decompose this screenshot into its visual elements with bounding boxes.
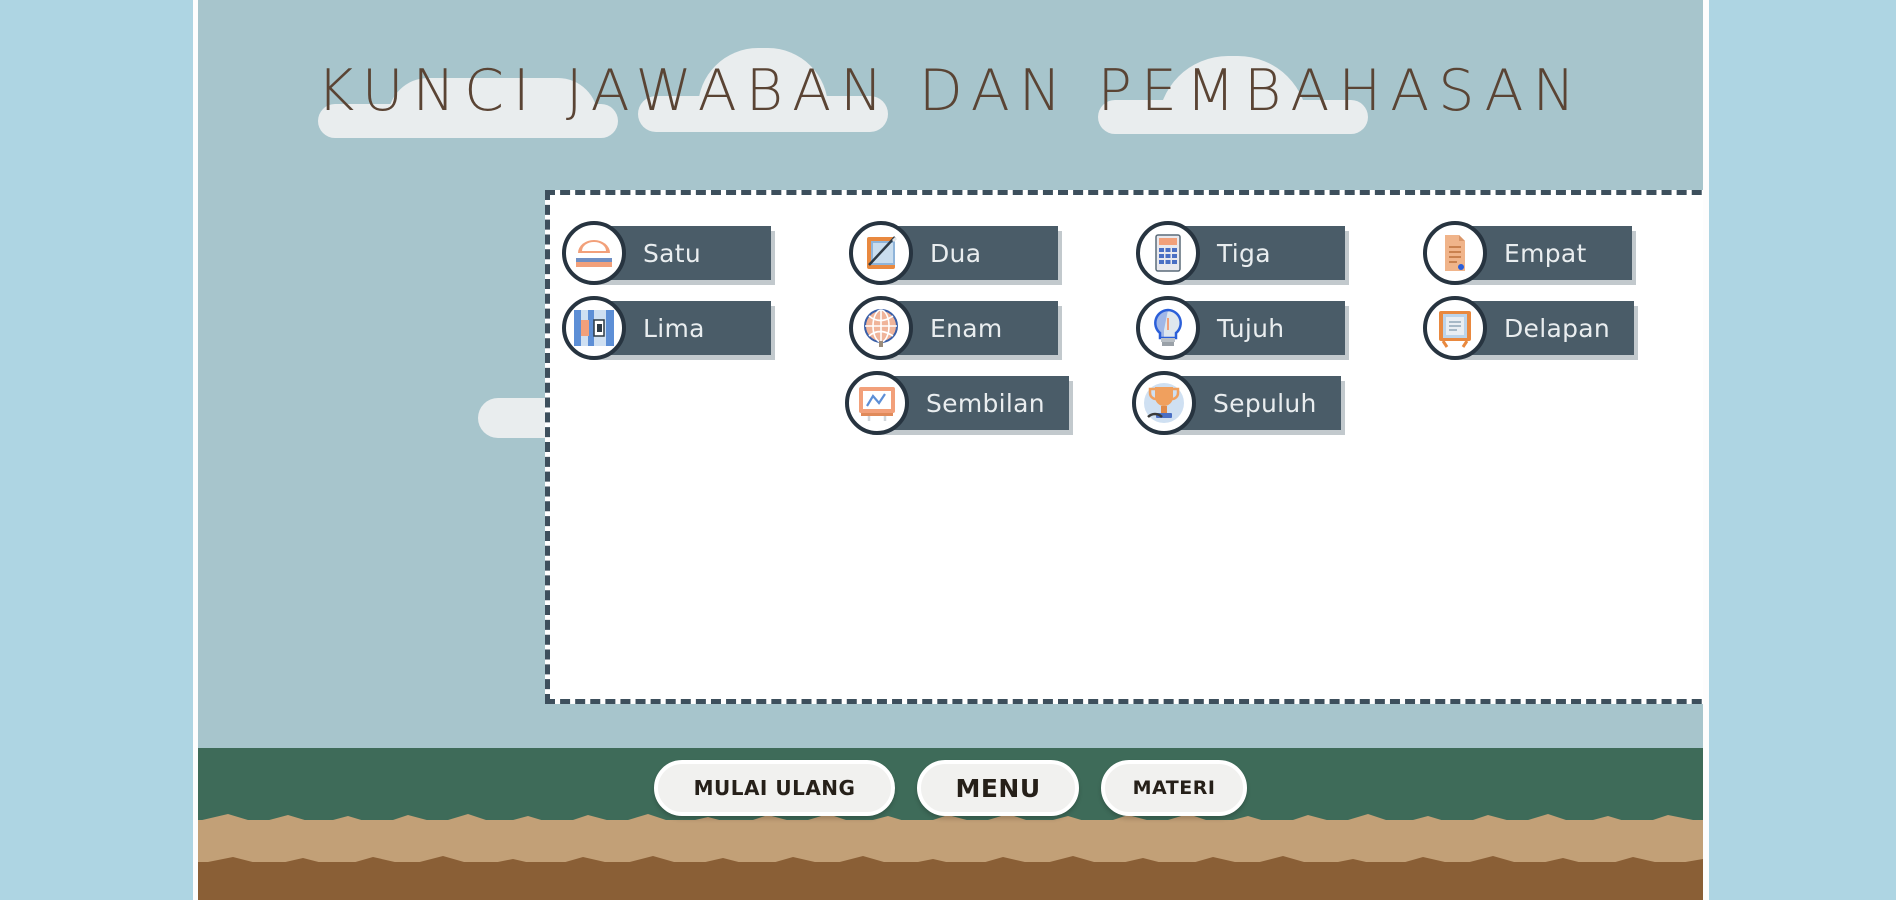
answer-button-label: Sembilan xyxy=(926,389,1045,418)
notepad-pen-icon xyxy=(849,221,913,285)
answer-button-label: Satu xyxy=(643,239,701,268)
answer-button-sepuluh[interactable]: Sepuluh xyxy=(1155,376,1341,430)
answer-button-delapan[interactable]: Delapan xyxy=(1446,301,1634,355)
restart-button[interactable]: MULAI ULANG xyxy=(654,760,896,816)
answer-row: SatuDuaTigaEmpat xyxy=(550,226,1703,280)
answer-slot: Dua xyxy=(872,226,1159,280)
answer-slot: Tiga xyxy=(1159,226,1446,280)
document-icon xyxy=(1423,221,1487,285)
answer-slot: Empat xyxy=(1446,226,1703,280)
answer-button-label: Delapan xyxy=(1504,314,1610,343)
nav-button-label: MULAI ULANG xyxy=(694,776,856,800)
answer-button-label: Dua xyxy=(930,239,981,268)
lightbulb-icon xyxy=(1136,296,1200,360)
bowl-icon xyxy=(562,221,626,285)
answer-slot: Tujuh xyxy=(1159,301,1446,355)
nav-button-label: MATERI xyxy=(1133,777,1216,799)
trophy-icon xyxy=(1132,371,1196,435)
page-title: KUNCI JAWABAN DAN PEMBAHASAN xyxy=(198,58,1703,124)
books-icon xyxy=(562,296,626,360)
answer-button-dua[interactable]: Dua xyxy=(872,226,1058,280)
answer-button-tiga[interactable]: Tiga xyxy=(1159,226,1345,280)
answer-button-label: Tiga xyxy=(1217,239,1271,268)
app-root: KUNCI JAWABAN DAN PEMBAHASAN ✕ SatuDuaTi… xyxy=(0,0,1896,900)
answer-button-sembilan[interactable]: Sembilan xyxy=(868,376,1069,430)
answer-key-panel: SatuDuaTigaEmpatLimaEnamTujuhDelapanSemb… xyxy=(545,190,1703,704)
answer-button-label: Enam xyxy=(930,314,1003,343)
answer-slot: Lima xyxy=(585,301,872,355)
answer-slot: Enam xyxy=(872,301,1159,355)
answer-button-tujuh[interactable]: Tujuh xyxy=(1159,301,1345,355)
dirt-dark-layer xyxy=(198,862,1703,900)
answer-button-enam[interactable]: Enam xyxy=(872,301,1058,355)
materi-button[interactable]: MATERI xyxy=(1101,760,1248,816)
game-stage: KUNCI JAWABAN DAN PEMBAHASAN ✕ SatuDuaTi… xyxy=(198,0,1703,900)
answer-slot: Sembilan xyxy=(868,376,1155,430)
answer-row: LimaEnamTujuhDelapan xyxy=(550,301,1703,355)
open-book-icon xyxy=(1423,296,1487,360)
answer-button-label: Lima xyxy=(643,314,705,343)
globe-icon xyxy=(849,296,913,360)
answer-row: SembilanSepuluh xyxy=(550,376,1703,430)
answer-button-empat[interactable]: Empat xyxy=(1446,226,1632,280)
answer-button-label: Sepuluh xyxy=(1213,389,1317,418)
whiteboard-icon xyxy=(845,371,909,435)
nav-button-label: MENU xyxy=(955,774,1040,803)
answer-button-label: Empat xyxy=(1504,239,1587,268)
answer-slot: Satu xyxy=(585,226,872,280)
answer-button-label: Tujuh xyxy=(1217,314,1284,343)
menu-button[interactable]: MENU xyxy=(917,760,1078,816)
stage-right-edge xyxy=(1703,0,1709,900)
answer-slot: Sepuluh xyxy=(1155,376,1442,430)
bottom-navigation: MULAI ULANGMENUMATERI xyxy=(198,760,1703,816)
answer-slot: Delapan xyxy=(1446,301,1703,355)
answer-button-lima[interactable]: Lima xyxy=(585,301,771,355)
calculator-icon xyxy=(1136,221,1200,285)
answer-button-satu[interactable]: Satu xyxy=(585,226,771,280)
